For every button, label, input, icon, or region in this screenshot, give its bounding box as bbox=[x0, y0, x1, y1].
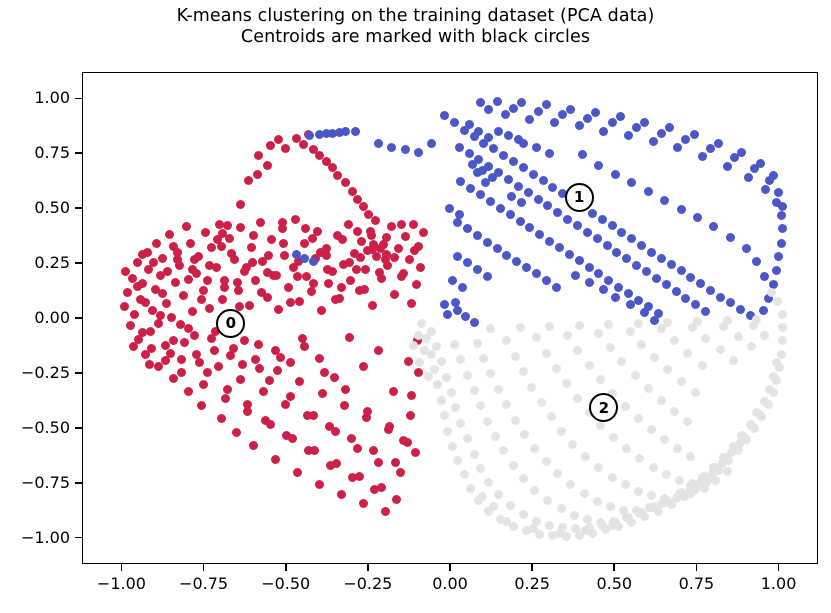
data-point bbox=[310, 446, 319, 455]
data-point bbox=[532, 333, 541, 342]
data-point bbox=[575, 256, 584, 265]
data-point bbox=[504, 175, 513, 184]
data-point bbox=[716, 293, 725, 302]
data-point bbox=[723, 316, 732, 325]
data-point bbox=[632, 506, 641, 515]
data-point bbox=[519, 367, 528, 376]
data-point bbox=[649, 463, 658, 472]
data-point bbox=[706, 286, 715, 295]
data-point bbox=[145, 360, 154, 369]
data-point bbox=[673, 444, 682, 453]
data-point bbox=[502, 251, 511, 260]
data-point bbox=[315, 480, 324, 489]
data-point bbox=[274, 305, 283, 314]
data-point bbox=[588, 209, 597, 218]
data-point bbox=[397, 220, 406, 229]
data-point bbox=[256, 218, 265, 227]
data-point bbox=[367, 231, 376, 240]
data-point bbox=[384, 425, 393, 434]
data-point bbox=[437, 357, 446, 366]
data-point bbox=[320, 368, 329, 377]
data-point bbox=[387, 222, 396, 231]
data-point bbox=[566, 105, 575, 114]
data-point bbox=[217, 414, 226, 423]
data-point bbox=[456, 419, 465, 428]
data-point bbox=[353, 444, 362, 453]
data-point bbox=[512, 257, 521, 266]
data-point bbox=[606, 502, 615, 511]
data-point bbox=[188, 265, 197, 274]
data-point bbox=[293, 468, 302, 477]
data-point bbox=[392, 495, 401, 504]
data-point bbox=[179, 291, 188, 300]
data-point bbox=[596, 375, 605, 384]
data-point bbox=[539, 176, 548, 185]
plot-axes: 012 bbox=[82, 72, 818, 564]
data-point bbox=[347, 434, 356, 443]
data-point bbox=[604, 276, 613, 285]
data-point bbox=[417, 319, 426, 328]
data-point bbox=[506, 501, 515, 510]
data-point bbox=[341, 385, 350, 394]
data-point bbox=[263, 161, 272, 170]
data-point bbox=[723, 162, 732, 171]
data-point bbox=[470, 318, 479, 327]
data-point bbox=[493, 97, 502, 106]
data-point bbox=[642, 267, 651, 276]
data-point bbox=[267, 235, 276, 244]
data-point bbox=[280, 251, 289, 260]
data-point bbox=[199, 286, 208, 295]
data-point bbox=[453, 218, 462, 227]
data-point bbox=[440, 300, 449, 309]
data-point bbox=[701, 479, 710, 488]
data-point bbox=[414, 148, 423, 157]
data-point bbox=[177, 355, 186, 364]
data-point bbox=[769, 372, 778, 381]
data-point bbox=[619, 506, 628, 515]
data-point bbox=[259, 387, 268, 396]
data-point bbox=[611, 293, 620, 302]
x-tick-mark bbox=[203, 564, 205, 571]
data-point bbox=[315, 130, 324, 139]
data-point bbox=[340, 401, 349, 410]
data-point bbox=[686, 273, 695, 282]
data-point bbox=[325, 422, 334, 431]
data-point bbox=[419, 228, 428, 237]
data-point bbox=[344, 220, 353, 229]
data-point bbox=[479, 354, 488, 363]
data-point bbox=[637, 340, 646, 349]
data-point bbox=[390, 290, 399, 299]
data-point bbox=[188, 307, 197, 316]
data-point bbox=[199, 380, 208, 389]
data-point bbox=[603, 241, 612, 250]
data-point bbox=[537, 398, 546, 407]
data-point bbox=[463, 371, 472, 380]
data-point bbox=[774, 188, 783, 197]
data-point bbox=[573, 394, 582, 403]
data-point bbox=[337, 283, 346, 292]
data-point bbox=[257, 288, 266, 297]
data-point bbox=[248, 258, 257, 267]
data-point bbox=[281, 400, 290, 409]
data-point bbox=[184, 275, 193, 284]
data-point bbox=[391, 458, 400, 467]
data-point bbox=[737, 148, 746, 157]
data-point bbox=[573, 346, 582, 355]
data-point bbox=[650, 353, 659, 362]
data-point bbox=[634, 319, 643, 328]
data-point bbox=[617, 228, 626, 237]
data-point bbox=[760, 272, 769, 281]
data-point bbox=[389, 387, 398, 396]
y-tick-mark bbox=[75, 372, 82, 374]
data-point bbox=[182, 222, 191, 231]
data-point bbox=[553, 469, 562, 478]
data-point bbox=[612, 248, 621, 257]
data-point bbox=[473, 265, 482, 274]
data-point bbox=[517, 98, 526, 107]
data-point bbox=[767, 288, 776, 297]
data-point bbox=[677, 205, 686, 214]
data-point bbox=[761, 185, 770, 194]
data-point bbox=[736, 305, 745, 314]
data-point bbox=[542, 457, 551, 466]
data-point bbox=[352, 265, 361, 274]
data-point bbox=[691, 388, 700, 397]
chart-subtitle: Centroids are marked with black circles bbox=[0, 27, 831, 48]
data-point bbox=[470, 386, 479, 395]
data-point bbox=[272, 271, 281, 280]
data-point bbox=[221, 394, 230, 403]
data-point bbox=[374, 346, 383, 355]
data-point bbox=[657, 396, 666, 405]
data-point bbox=[552, 364, 561, 373]
data-point bbox=[778, 336, 787, 345]
data-point bbox=[608, 118, 617, 127]
data-point bbox=[465, 120, 474, 129]
data-point bbox=[476, 190, 485, 199]
data-point bbox=[599, 285, 608, 294]
data-point bbox=[324, 279, 333, 288]
data-point bbox=[545, 149, 554, 158]
data-point bbox=[626, 300, 635, 309]
data-point bbox=[525, 115, 534, 124]
y-tick-mark bbox=[75, 152, 82, 154]
data-point bbox=[652, 274, 661, 283]
data-point bbox=[218, 295, 227, 304]
data-point bbox=[701, 334, 710, 343]
centroid-marker-0: 0 bbox=[216, 309, 245, 338]
data-point bbox=[621, 480, 630, 489]
data-point bbox=[573, 221, 582, 230]
data-point bbox=[571, 271, 580, 280]
data-point bbox=[414, 368, 423, 377]
data-point bbox=[138, 328, 147, 337]
data-point bbox=[171, 278, 180, 287]
data-point bbox=[427, 139, 436, 148]
data-point bbox=[288, 434, 297, 443]
data-point bbox=[401, 145, 410, 154]
data-point bbox=[634, 487, 643, 496]
y-tick-label: −0.50 bbox=[0, 418, 70, 437]
data-point bbox=[593, 234, 602, 243]
data-point bbox=[690, 130, 699, 139]
data-point bbox=[517, 198, 526, 207]
x-tick-mark bbox=[285, 564, 287, 571]
data-point bbox=[670, 407, 679, 416]
chart-title-block: K-means clustering on the training datas… bbox=[0, 6, 831, 47]
data-point bbox=[709, 222, 718, 231]
data-point bbox=[681, 135, 690, 144]
data-point bbox=[465, 149, 474, 158]
data-point bbox=[147, 344, 156, 353]
data-point bbox=[473, 168, 482, 177]
data-point bbox=[158, 289, 167, 298]
data-point bbox=[667, 260, 676, 269]
data-point bbox=[765, 385, 774, 394]
data-point bbox=[351, 127, 360, 136]
data-point bbox=[662, 470, 671, 479]
data-point bbox=[527, 383, 536, 392]
data-point bbox=[456, 177, 465, 186]
data-point bbox=[649, 137, 658, 146]
data-point bbox=[356, 253, 365, 262]
data-point bbox=[657, 254, 666, 263]
data-point bbox=[203, 276, 212, 285]
data-point bbox=[489, 144, 498, 153]
data-point bbox=[640, 308, 649, 317]
data-point bbox=[644, 384, 653, 393]
data-point bbox=[251, 355, 260, 364]
data-point bbox=[307, 287, 316, 296]
data-point bbox=[234, 286, 243, 295]
data-point bbox=[184, 387, 193, 396]
data-point bbox=[511, 416, 520, 425]
data-point bbox=[522, 263, 531, 272]
data-point bbox=[611, 170, 620, 179]
data-point bbox=[186, 239, 195, 248]
data-point bbox=[205, 304, 214, 313]
data-point bbox=[484, 478, 493, 487]
y-tick-label: −0.25 bbox=[0, 363, 70, 382]
data-point bbox=[437, 396, 446, 405]
data-point bbox=[303, 411, 312, 420]
data-point bbox=[442, 373, 451, 382]
data-point bbox=[494, 490, 503, 499]
data-point bbox=[622, 444, 631, 453]
y-tick-mark bbox=[75, 317, 82, 319]
data-point bbox=[657, 129, 666, 138]
data-point bbox=[249, 231, 258, 240]
data-point bbox=[519, 510, 528, 519]
data-point bbox=[337, 490, 346, 499]
data-point bbox=[207, 334, 216, 343]
data-point bbox=[264, 251, 273, 260]
data-point bbox=[744, 173, 753, 182]
data-point bbox=[632, 261, 641, 270]
data-point bbox=[359, 499, 368, 508]
data-point bbox=[502, 336, 511, 345]
y-tick-mark bbox=[75, 427, 82, 429]
data-point bbox=[286, 298, 295, 307]
data-point bbox=[583, 114, 592, 123]
data-point bbox=[555, 529, 564, 538]
data-point bbox=[381, 507, 390, 516]
data-point bbox=[481, 178, 490, 187]
data-point bbox=[660, 435, 669, 444]
data-point bbox=[405, 255, 414, 264]
data-point bbox=[672, 287, 681, 296]
data-point bbox=[445, 204, 454, 213]
data-point bbox=[406, 411, 415, 420]
data-point bbox=[640, 118, 649, 127]
data-point bbox=[244, 176, 253, 185]
data-point bbox=[243, 407, 252, 416]
data-point bbox=[195, 358, 204, 367]
data-point bbox=[190, 331, 199, 340]
data-point bbox=[274, 135, 283, 144]
data-point bbox=[169, 336, 178, 345]
data-point bbox=[542, 100, 551, 109]
data-point bbox=[149, 258, 158, 267]
y-tick-mark bbox=[75, 482, 82, 484]
data-point bbox=[138, 250, 147, 259]
data-point bbox=[190, 255, 199, 264]
data-point bbox=[742, 244, 751, 253]
data-point bbox=[361, 265, 370, 274]
x-tick-mark bbox=[696, 564, 698, 571]
data-point bbox=[299, 140, 308, 149]
data-point bbox=[455, 210, 464, 219]
data-point bbox=[371, 216, 380, 225]
data-point bbox=[409, 341, 418, 350]
data-point bbox=[360, 285, 369, 294]
data-point bbox=[624, 289, 633, 298]
data-point bbox=[333, 171, 342, 180]
data-point bbox=[133, 258, 142, 267]
x-tick-mark bbox=[531, 564, 533, 571]
data-point bbox=[236, 200, 245, 209]
x-tick-mark bbox=[121, 564, 123, 571]
data-point bbox=[345, 333, 354, 342]
data-point bbox=[486, 369, 495, 378]
data-point bbox=[394, 244, 403, 253]
data-point bbox=[414, 331, 423, 340]
data-point bbox=[534, 107, 543, 116]
data-point bbox=[331, 295, 340, 304]
data-point bbox=[596, 421, 605, 430]
data-point bbox=[596, 518, 605, 527]
data-point bbox=[698, 361, 707, 370]
data-point bbox=[271, 346, 280, 355]
data-point bbox=[232, 428, 241, 437]
data-point bbox=[686, 452, 695, 461]
data-point bbox=[443, 427, 452, 436]
data-point bbox=[594, 463, 603, 472]
data-point bbox=[357, 237, 366, 246]
data-point bbox=[177, 368, 186, 377]
data-point bbox=[502, 400, 511, 409]
data-point bbox=[608, 521, 617, 530]
data-point bbox=[146, 327, 155, 336]
data-point bbox=[627, 178, 636, 187]
data-point bbox=[509, 104, 518, 113]
data-point bbox=[496, 204, 505, 213]
data-point bbox=[169, 374, 178, 383]
data-point bbox=[570, 511, 579, 520]
data-point bbox=[473, 339, 482, 348]
data-point bbox=[460, 470, 469, 479]
data-point bbox=[566, 480, 575, 489]
data-point bbox=[747, 342, 756, 351]
data-point bbox=[553, 208, 562, 217]
data-point bbox=[223, 385, 232, 394]
x-tick-mark bbox=[778, 564, 780, 571]
y-tick-label: 0.75 bbox=[0, 143, 70, 162]
data-point bbox=[223, 221, 232, 230]
data-point bbox=[338, 235, 347, 244]
data-point bbox=[769, 171, 778, 180]
data-point bbox=[273, 366, 282, 375]
data-point bbox=[647, 425, 656, 434]
y-tick-mark bbox=[75, 98, 82, 100]
data-point bbox=[693, 213, 702, 222]
data-point bbox=[606, 343, 615, 352]
data-point bbox=[210, 346, 219, 355]
data-point bbox=[245, 301, 254, 310]
data-point bbox=[484, 133, 493, 142]
data-point bbox=[369, 446, 378, 455]
data-point bbox=[575, 321, 584, 330]
data-point bbox=[300, 342, 309, 351]
data-point bbox=[466, 484, 475, 493]
data-point bbox=[752, 257, 761, 266]
data-point bbox=[723, 467, 732, 476]
data-point bbox=[466, 184, 475, 193]
data-point bbox=[201, 228, 210, 237]
data-point bbox=[473, 231, 482, 240]
data-point bbox=[353, 227, 362, 236]
data-point bbox=[752, 408, 761, 417]
data-point bbox=[677, 377, 686, 386]
data-point bbox=[543, 496, 552, 505]
data-point bbox=[644, 187, 653, 196]
data-point bbox=[542, 276, 551, 285]
data-point bbox=[519, 163, 528, 172]
y-tick-label: 1.00 bbox=[0, 88, 70, 107]
data-point bbox=[166, 349, 175, 358]
data-point bbox=[197, 295, 206, 304]
data-point bbox=[279, 239, 288, 248]
data-point bbox=[756, 159, 765, 168]
data-point bbox=[410, 246, 419, 255]
data-point bbox=[254, 340, 263, 349]
data-point bbox=[545, 237, 554, 246]
data-point bbox=[491, 432, 500, 441]
data-point bbox=[621, 402, 630, 411]
data-point bbox=[377, 483, 386, 492]
data-point bbox=[295, 377, 304, 386]
data-point bbox=[397, 272, 406, 281]
data-point bbox=[591, 108, 600, 117]
data-point bbox=[318, 389, 327, 398]
data-point bbox=[443, 310, 452, 319]
data-point bbox=[545, 322, 554, 331]
data-point bbox=[458, 283, 467, 292]
data-point bbox=[130, 310, 139, 319]
